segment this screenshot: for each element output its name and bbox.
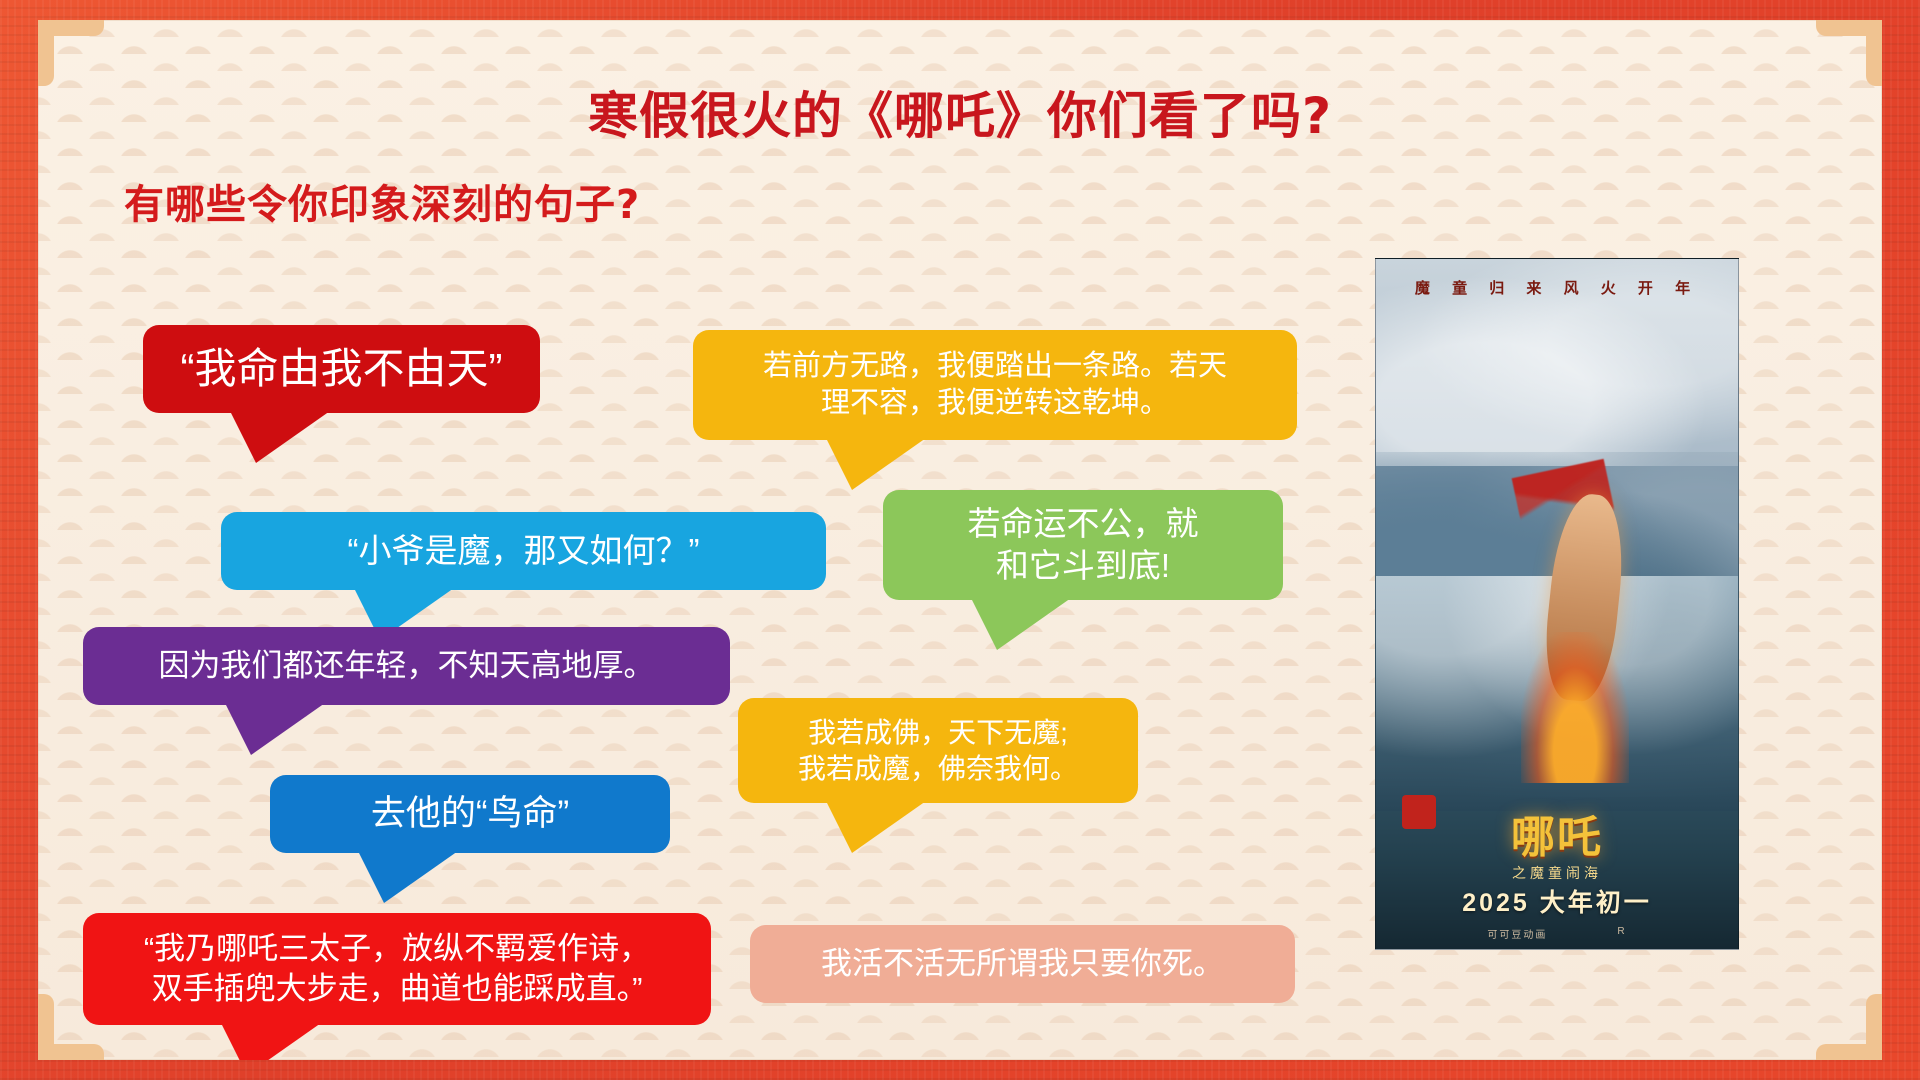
speech-bubble-text: 我活不活无所谓我只要你死。	[821, 944, 1224, 984]
speech-bubble-tail	[826, 438, 926, 490]
speech-bubble-quote-yellow-mid[interactable]: 我若成佛，天下无魔; 我若成魔，佛奈我何。	[738, 698, 1138, 803]
speech-bubble-tail	[826, 801, 926, 853]
poster-tagline: 魔 童 归 来 风 火 开 年	[1376, 277, 1738, 298]
speech-bubble-quote-salmon[interactable]: 我活不活无所谓我只要你死。	[750, 925, 1295, 1003]
speech-bubble-text: 若前方无路，我便踏出一条路。若天 理不容，我便逆转这乾坤。	[763, 348, 1227, 422]
poster-credit-studio: 可可豆动画	[1487, 926, 1547, 941]
speech-bubble-text: “小爷是魔，那又如何？”	[348, 530, 700, 572]
speech-bubble-tail	[225, 703, 325, 755]
speech-bubble-text: 我若成佛，天下无魔; 我若成魔，佛奈我何。	[798, 715, 1078, 787]
speech-bubble-tail	[971, 598, 1071, 650]
speech-bubble-text: “我命由我不由天”	[181, 342, 503, 396]
speech-bubble-quote-purple[interactable]: 因为我们都还年轻，不知天高地厚。	[83, 627, 730, 705]
poster-credits: 可可豆动画 R	[1376, 926, 1738, 941]
speech-bubble-tail	[230, 411, 330, 463]
speech-bubble-quote-yellow-top[interactable]: 若前方无路，我便踏出一条路。若天 理不容，我便逆转这乾坤。	[693, 330, 1297, 440]
slide-root: 寒假很火的《哪吒》你们看了吗? 有哪些令你印象深刻的句子? “我命由我不由天”若…	[0, 0, 1920, 1080]
poster-subtitle: 之魔童闹海	[1376, 863, 1738, 883]
speech-bubble-quote-green[interactable]: 若命运不公，就 和它斗到底!	[883, 490, 1283, 600]
speech-bubble-quote-blue-light[interactable]: “小爷是魔，那又如何？”	[221, 512, 826, 590]
speech-bubble-text: 去他的“鸟命”	[371, 792, 569, 837]
poster-logo: 哪吒	[1376, 801, 1738, 865]
speech-bubble-tail	[358, 851, 458, 903]
slide-subtitle: 有哪些令你印象深刻的句子?	[124, 172, 640, 230]
speech-bubble-text: “我乃哪吒三太子，放纵不羁爱作诗， 双手插兜大步走，曲道也能踩成直。”	[144, 929, 650, 1008]
speech-bubble-quote-blue-dark[interactable]: 去他的“鸟命”	[270, 775, 670, 853]
slide-title: 寒假很火的《哪吒》你们看了吗?	[38, 76, 1882, 148]
slide-page: 寒假很火的《哪吒》你们看了吗? 有哪些令你印象深刻的句子? “我命由我不由天”若…	[38, 20, 1882, 1060]
speech-bubble-text: 若命运不公，就 和它斗到底!	[968, 503, 1199, 587]
speech-bubble-text: 因为我们都还年轻，不知天高地厚。	[159, 646, 655, 686]
nezha-movie-poster: 魔 童 归 来 风 火 开 年 哪吒 之魔童闹海 2025 大年初一 可可豆动画…	[1375, 258, 1739, 950]
corner-ornament-bottom-right	[1816, 994, 1882, 1060]
poster-release-date: 2025 大年初一	[1376, 883, 1738, 919]
speech-bubble-quote-red-bottom[interactable]: “我乃哪吒三太子，放纵不羁爱作诗， 双手插兜大步走，曲道也能踩成直。”	[83, 913, 711, 1025]
speech-bubble-tail	[221, 1023, 321, 1060]
poster-credit-rating: R	[1617, 926, 1626, 941]
speech-bubble-quote-red-top[interactable]: “我命由我不由天”	[143, 325, 540, 413]
